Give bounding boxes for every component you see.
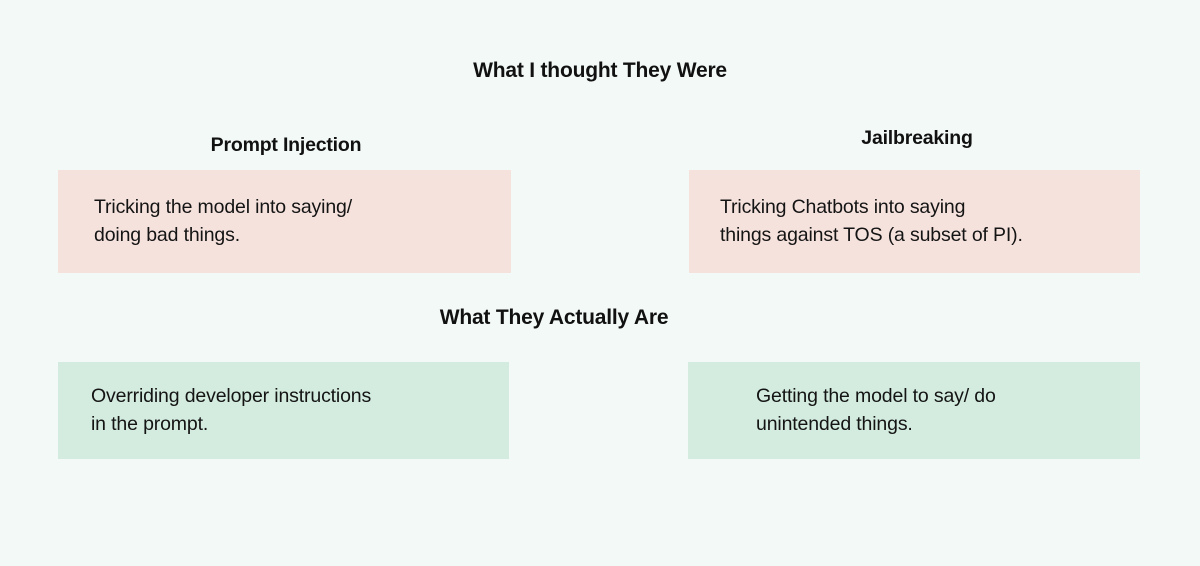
card-jailbreaking-reality-text: Getting the model to say/ do unintended … [756,383,1124,438]
column-header-prompt-injection: Prompt Injection [211,134,362,157]
column-header-jailbreaking: Jailbreaking [861,127,972,150]
card-prompt-injection-reality: Overriding developer instructions in the… [58,362,509,459]
reality-section-title: What They Actually Are [0,306,1154,330]
card-jailbreaking-misconception-text: Tricking Chatbots into saying things aga… [720,194,1124,249]
card-prompt-injection-misconception: Tricking the model into saying/ doing ba… [58,170,511,273]
comparison-infographic: What I thought They Were Prompt Injectio… [0,0,1200,566]
misconception-section-title: What I thought They Were [0,59,1200,83]
card-prompt-injection-reality-text: Overriding developer instructions in the… [91,383,493,438]
card-prompt-injection-misconception-text: Tricking the model into saying/ doing ba… [94,194,495,249]
card-jailbreaking-reality: Getting the model to say/ do unintended … [688,362,1140,459]
card-jailbreaking-misconception: Tricking Chatbots into saying things aga… [689,170,1140,273]
